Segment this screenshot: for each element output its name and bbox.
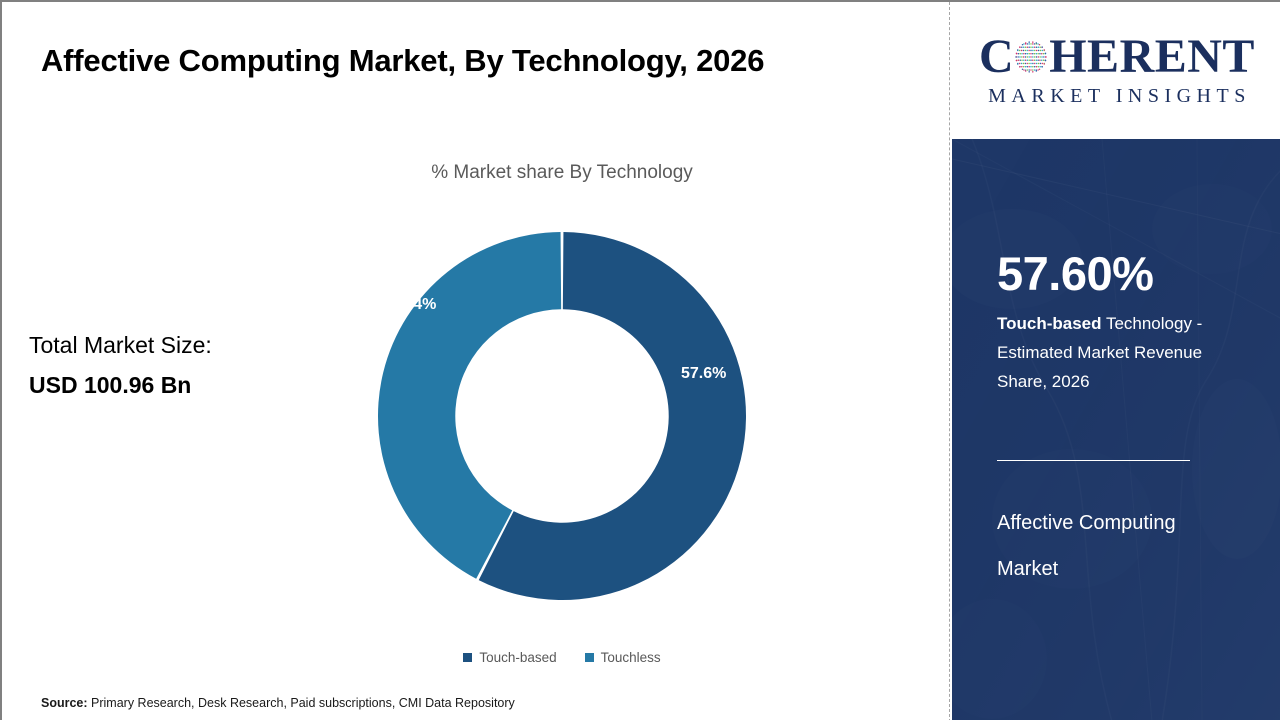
brand-tagline: MARKET INSIGHTS <box>983 85 1251 108</box>
brand-logo: C HERENT MARKET INSIGHTS <box>952 2 1280 139</box>
source-label: Source: <box>41 696 88 710</box>
panel-market-name: Affective Computing Market <box>997 501 1217 592</box>
page-title: Affective Computing Market, By Technolog… <box>41 36 851 86</box>
source-note: Source: Primary Research, Desk Research,… <box>41 696 515 710</box>
brand-logo-row: C HERENT <box>979 33 1255 81</box>
globe-dots-icon <box>1014 40 1048 74</box>
panel-content: 57.60% Touch-based Technology - Estimate… <box>997 139 1247 720</box>
total-market-size: Total Market Size: USD 100.96 Bn <box>29 326 212 405</box>
donut-chart: 42.4% 57.6% <box>378 232 746 600</box>
highlight-stat-value: 57.60% <box>997 246 1153 301</box>
chart-subtitle: % Market share By Technology <box>202 162 922 184</box>
legend-swatch-touch-based <box>463 653 472 662</box>
legend-swatch-touchless <box>585 653 594 662</box>
infographic-root: Affective Computing Market, By Technolog… <box>0 0 1280 720</box>
market-size-value: USD 100.96 Bn <box>29 366 212 406</box>
panel-divider <box>997 460 1190 461</box>
brand-name-rest: HERENT <box>1049 33 1255 81</box>
legend-label-touchless: Touchless <box>601 650 661 665</box>
legend-label-touch-based: Touch-based <box>479 650 556 665</box>
legend-item-touchless[interactable]: Touchless <box>585 650 661 665</box>
highlight-panel: 57.60% Touch-based Technology - Estimate… <box>952 139 1280 720</box>
source-text: Primary Research, Desk Research, Paid su… <box>88 696 515 710</box>
highlight-stat-desc-bold: Touch-based <box>997 314 1102 333</box>
brand-name-initial: C <box>979 33 1014 81</box>
slice-label-touch-based: 57.6% <box>681 365 726 383</box>
market-size-label: Total Market Size: <box>29 326 212 366</box>
donut-chart-svg <box>378 232 746 600</box>
slice-label-touchless: 42.4% <box>391 296 436 314</box>
legend-item-touch-based[interactable]: Touch-based <box>463 650 556 665</box>
highlight-stat-description: Touch-based Technology - Estimated Marke… <box>997 309 1229 396</box>
vertical-divider <box>949 2 950 720</box>
chart-legend: Touch-based Touchless <box>202 650 922 665</box>
